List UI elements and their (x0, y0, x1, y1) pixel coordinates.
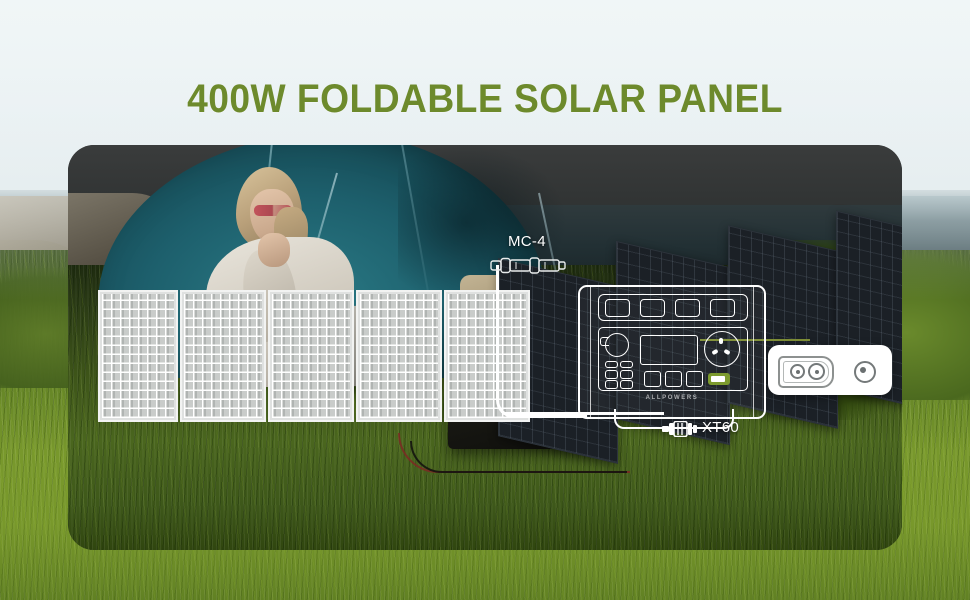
solar-cells (102, 294, 174, 418)
brand-label: ALLPOWERS (578, 395, 766, 401)
solar-cells (184, 294, 262, 418)
socket-pin (723, 349, 730, 355)
cable-lead-mc4 (496, 265, 587, 418)
ac-outlet-icon (640, 299, 665, 317)
solar-panel-segment (98, 290, 178, 422)
plug-pin-icon (808, 363, 825, 380)
control-button[interactable] (620, 380, 633, 389)
mc4-label: MC-4 (508, 233, 546, 250)
control-button[interactable] (605, 380, 618, 389)
solar-panel-segment (356, 290, 442, 422)
solar-panel-segment (180, 290, 266, 422)
plug-pin-icon (790, 364, 805, 379)
page-title: 400W FOLDABLE SOLAR PANEL (34, 76, 936, 122)
station-handle (614, 409, 734, 429)
mc4-connector-icon (490, 257, 566, 274)
solar-cells (360, 294, 438, 418)
power-station: ALLPOWERS (578, 285, 766, 419)
highlighted-dc-port[interactable] (708, 373, 730, 385)
hero-card: MC-4 (68, 145, 902, 550)
socket-pin (719, 338, 723, 344)
usb-port-icon (686, 371, 703, 387)
control-button[interactable] (605, 370, 618, 379)
ac-outlet-icon (710, 299, 735, 317)
indicator-bar (620, 361, 633, 368)
lcd-display (640, 335, 698, 365)
port-detail-callout (768, 345, 892, 395)
socket-pin (711, 349, 718, 355)
solar-panel-segment (268, 290, 354, 422)
plug-outline-icon (778, 356, 834, 388)
control-button[interactable] (620, 370, 633, 379)
marketing-banner: 400W FOLDABLE SOLAR PANEL (0, 0, 970, 600)
woman-hand (258, 233, 290, 267)
solar-cells (272, 294, 350, 418)
rotary-knob-icon (605, 333, 629, 357)
indicator-bar (605, 361, 618, 368)
ac-outlet-icon (675, 299, 700, 317)
ac-outlet-icon (605, 299, 630, 317)
round-ac-socket-icon (704, 331, 740, 367)
dc-socket-icon (854, 361, 876, 383)
usb-port-icon (644, 371, 661, 387)
usb-port-icon (665, 371, 682, 387)
hero-card-photo: MC-4 (68, 145, 902, 550)
